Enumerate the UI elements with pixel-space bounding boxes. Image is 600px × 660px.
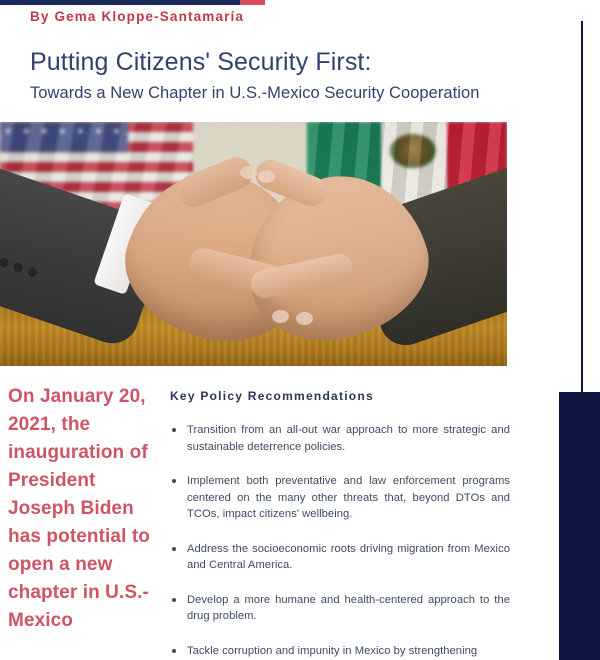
recommendations-list: Transition from an all-out war approach … (170, 422, 510, 659)
bullet-dot-icon (172, 547, 176, 551)
page-title: Putting Citizens' Security First: (30, 47, 575, 77)
bullet-dot-icon (172, 598, 176, 602)
recommendation-item: Implement both preventative and law enfo… (170, 473, 510, 523)
bullet-dot-icon (172, 479, 176, 483)
recommendation-text: Transition from an all-out war approach … (187, 424, 510, 453)
recommendation-item: Address the socioeconomic roots driving … (170, 541, 510, 574)
recommendation-text: Tackle corruption and impunity in Mexico… (187, 645, 477, 657)
author-byline: By Gema Kloppe-Santamaría (30, 8, 575, 26)
recommendation-item: Tackle corruption and impunity in Mexico… (170, 643, 510, 660)
hero-vignette (0, 122, 507, 366)
bullet-dot-icon (172, 649, 176, 653)
hero-photo: ★★★★★★★★★★★★★★★★★★★★★★ (0, 122, 507, 366)
recommendation-text: Implement both preventative and law enfo… (187, 475, 510, 520)
recommendation-item: Transition from an all-out war approach … (170, 422, 510, 455)
recommendation-text: Address the socioeconomic roots driving … (187, 543, 510, 572)
key-policy-recommendations: Key Policy Recommendations Transition fr… (170, 388, 510, 659)
right-vertical-rule (581, 21, 583, 392)
recommendation-item: Develop a more humane and health-centere… (170, 592, 510, 625)
recommendations-heading: Key Policy Recommendations (170, 388, 510, 404)
page-subtitle: Towards a New Chapter in U.S.-Mexico Sec… (30, 83, 575, 104)
pull-quote: On January 20, 2021, the inauguration of… (8, 383, 150, 635)
top-accent-rule (0, 0, 265, 5)
hero-photo-scene: ★★★★★★★★★★★★★★★★★★★★★★ (0, 122, 507, 366)
navy-side-block (559, 392, 600, 660)
article-header: By Gema Kloppe-Santamaría Putting Citize… (30, 8, 575, 104)
bullet-dot-icon (172, 428, 176, 432)
top-rule-red-segment (240, 0, 265, 5)
recommendation-text: Develop a more humane and health-centere… (187, 594, 510, 623)
top-rule-navy-segment (0, 0, 240, 5)
